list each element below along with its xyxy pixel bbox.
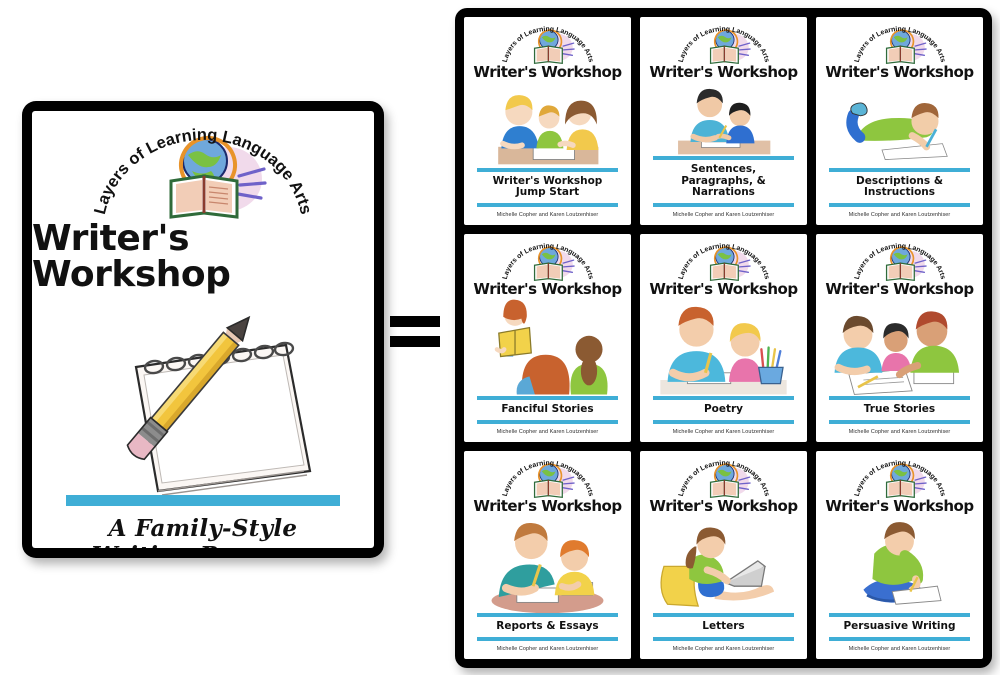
book-card-title-block: Persuasive Writing xyxy=(829,613,969,641)
poster-stage: Layers of Learning Language Arts Writer'… xyxy=(0,0,1000,675)
globe-and-open-book-icon: Layers of Learning Language Arts xyxy=(851,457,948,501)
book-card-title-block: Letters xyxy=(653,613,793,641)
book-card-illustration xyxy=(464,80,631,168)
book-card-title: Fanciful Stories xyxy=(477,400,617,420)
book-card-illustration xyxy=(816,80,983,168)
book-card-series-title: Writer's Workshop xyxy=(649,282,797,297)
book-card-title: True Stories xyxy=(829,400,969,420)
globe-and-open-book-icon: Layers of Learning Language Arts xyxy=(675,457,772,501)
book-card-authors: Michelle Copher and Karen Loutzenhiser xyxy=(497,212,599,218)
accent-bar-top xyxy=(66,495,340,506)
book-card-title-block: Sentences, Paragraphs, & Narrations xyxy=(653,156,793,207)
globe-and-open-book-icon: Layers of Learning Language Arts xyxy=(88,121,318,225)
book-card-title-block: Fanciful Stories xyxy=(477,396,617,424)
layers-of-learning-logo: Layers of Learning Language Arts xyxy=(499,240,596,258)
main-cover-subtitle: A Family-Style Writing Program xyxy=(66,506,340,548)
book-card[interactable]: Layers of Learning Language Arts Writer'… xyxy=(640,451,807,659)
globe-and-open-book-icon: Layers of Learning Language Arts xyxy=(499,457,596,501)
book-card-title-block: Reports & Essays xyxy=(477,613,617,641)
book-card-title: Descriptions & Instructions xyxy=(829,172,969,204)
globe-and-open-book-icon: Layers of Learning Language Arts xyxy=(675,240,772,284)
book-card-title-block: True Stories xyxy=(829,396,969,424)
accent-bar-bottom xyxy=(477,203,617,207)
book-card-title: Persuasive Writing xyxy=(829,617,969,637)
accent-bar-bottom xyxy=(829,637,969,641)
book-card-authors: Michelle Copher and Karen Loutzenhiser xyxy=(849,646,951,652)
accent-bar-bottom xyxy=(477,420,617,424)
book-card-illustration xyxy=(816,297,983,396)
layers-of-learning-logo: Layers of Learning Language Arts xyxy=(675,23,772,41)
book-card-illustration xyxy=(640,297,807,396)
layers-of-learning-logo: Layers of Learning Language Arts xyxy=(851,240,948,258)
layers-of-learning-logo: Layers of Learning Language Arts xyxy=(499,457,596,475)
book-card-authors: Michelle Copher and Karen Loutzenhiser xyxy=(849,212,951,218)
equals-sign xyxy=(390,316,440,347)
book-card-series-title: Writer's Workshop xyxy=(649,499,797,514)
book-card-title-block: Poetry xyxy=(653,396,793,424)
layers-of-learning-logo: Layers of Learning Language Arts xyxy=(499,23,596,41)
book-card-title-block: Descriptions & Instructions xyxy=(829,168,969,208)
equals-bar-bottom xyxy=(390,336,440,347)
book-card[interactable]: Layers of Learning Language Arts Writer'… xyxy=(816,234,983,442)
book-card-series-title: Writer's Workshop xyxy=(825,65,973,80)
accent-bar-bottom xyxy=(829,420,969,424)
book-card-illustration xyxy=(816,514,983,613)
book-card-title: Reports & Essays xyxy=(477,617,617,637)
main-book-cover[interactable]: Layers of Learning Language Arts Writer'… xyxy=(22,101,384,558)
book-card[interactable]: Layers of Learning Language Arts Writer'… xyxy=(640,17,807,225)
accent-bar-bottom xyxy=(653,420,793,424)
book-card[interactable]: Layers of Learning Language Arts Writer'… xyxy=(464,234,631,442)
layers-of-learning-logo: Layers of Learning Language Arts xyxy=(675,457,772,475)
main-cover-page: Layers of Learning Language Arts Writer'… xyxy=(32,111,374,548)
layers-of-learning-logo: Layers of Learning Language Arts xyxy=(88,121,318,225)
book-card-illustration xyxy=(464,514,631,613)
book-card-series-title: Writer's Workshop xyxy=(473,282,621,297)
book-grid: Layers of Learning Language Arts Writer'… xyxy=(455,8,992,668)
globe-and-open-book-icon: Layers of Learning Language Arts xyxy=(499,23,596,67)
book-card-series-title: Writer's Workshop xyxy=(473,499,621,514)
book-card-series-title: Writer's Workshop xyxy=(473,65,621,80)
globe-and-open-book-icon: Layers of Learning Language Arts xyxy=(675,23,772,67)
globe-and-open-book-icon: Layers of Learning Language Arts xyxy=(499,240,596,284)
book-card-illustration xyxy=(464,297,631,396)
book-card-title: Sentences, Paragraphs, & Narrations xyxy=(653,160,793,203)
book-card[interactable]: Layers of Learning Language Arts Writer'… xyxy=(816,451,983,659)
book-card-authors: Michelle Copher and Karen Loutzenhiser xyxy=(673,646,775,652)
layers-of-learning-logo: Layers of Learning Language Arts xyxy=(675,240,772,258)
accent-bar-bottom xyxy=(653,637,793,641)
layers-of-learning-logo: Layers of Learning Language Arts xyxy=(851,23,948,41)
accent-bar-bottom xyxy=(653,203,793,207)
book-card-title: Letters xyxy=(653,617,793,637)
layers-of-learning-logo: Layers of Learning Language Arts xyxy=(851,457,948,475)
book-card-authors: Michelle Copher and Karen Loutzenhiser xyxy=(673,212,775,218)
book-card-title: Writer's Workshop Jump Start xyxy=(477,172,617,204)
accent-bar-bottom xyxy=(477,637,617,641)
book-card-title-block: Writer's Workshop Jump Start xyxy=(477,168,617,208)
book-card-series-title: Writer's Workshop xyxy=(649,65,797,80)
accent-bar-bottom xyxy=(829,203,969,207)
equals-bar-top xyxy=(390,316,440,327)
book-card[interactable]: Layers of Learning Language Arts Writer'… xyxy=(640,234,807,442)
book-card-illustration xyxy=(640,514,807,613)
book-card-authors: Michelle Copher and Karen Loutzenhiser xyxy=(497,429,599,435)
book-card-authors: Michelle Copher and Karen Loutzenhiser xyxy=(673,429,775,435)
book-card-series-title: Writer's Workshop xyxy=(825,499,973,514)
pencil-and-notepad-illustration xyxy=(58,295,348,495)
main-cover-subtitle-block: A Family-Style Writing Program xyxy=(66,495,340,548)
book-card-authors: Michelle Copher and Karen Loutzenhiser xyxy=(849,429,951,435)
book-card-illustration xyxy=(640,80,807,156)
book-card-authors: Michelle Copher and Karen Loutzenhiser xyxy=(497,646,599,652)
book-card-series-title: Writer's Workshop xyxy=(825,282,973,297)
globe-and-open-book-icon: Layers of Learning Language Arts xyxy=(851,23,948,67)
book-card[interactable]: Layers of Learning Language Arts Writer'… xyxy=(464,451,631,659)
globe-and-open-book-icon: Layers of Learning Language Arts xyxy=(851,240,948,284)
main-cover-title: Writer's Workshop xyxy=(32,221,374,293)
book-card-title: Poetry xyxy=(653,400,793,420)
book-card[interactable]: Layers of Learning Language Arts Writer'… xyxy=(816,17,983,225)
book-card[interactable]: Layers of Learning Language Arts Writer'… xyxy=(464,17,631,225)
